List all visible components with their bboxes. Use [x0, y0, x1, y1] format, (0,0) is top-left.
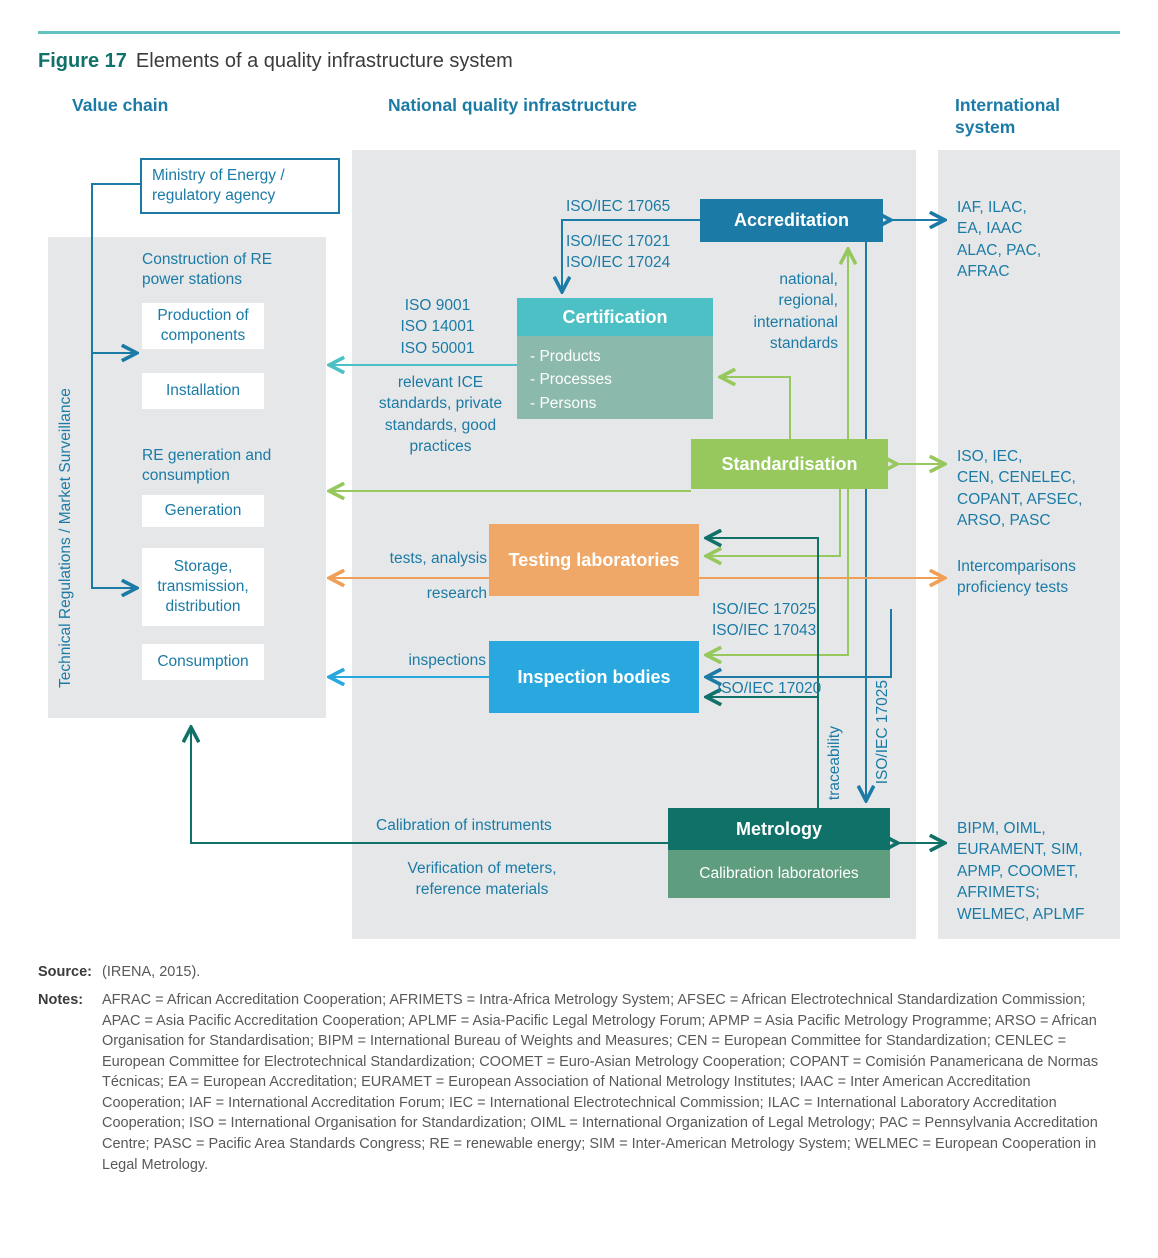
column-header-national-quality-infrastructure: National quality infrastructure [388, 95, 637, 117]
storage-transmission-distribution-box[interactable]: Storage, transmission, distribution [142, 548, 264, 626]
installation-box[interactable]: Installation [142, 373, 264, 409]
notes-block: Notes:AFRAC = African Accreditation Coop… [38, 990, 1120, 1175]
label-iso-17020: ISO/IEC 17020 [717, 678, 821, 699]
testing-laboratories-box[interactable]: Testing laboratories [489, 524, 699, 596]
notes-label: Notes: [38, 990, 102, 1011]
re-generation-group-title: RE generation and consumption [142, 446, 317, 486]
notes-text: AFRAC = African Accreditation Cooperatio… [102, 990, 1114, 1175]
figure-label: Figure 17 [38, 50, 127, 72]
label-iso-17021-17024: ISO/IEC 17021 ISO/IEC 17024 [566, 231, 670, 274]
inspection-bodies-box[interactable]: Inspection bodies [489, 641, 699, 713]
column-header-value-chain: Value chain [72, 95, 168, 117]
figure-title: Elements of a quality infrastructure sys… [136, 50, 513, 72]
metrology-box[interactable]: Metrology [668, 808, 890, 850]
label-tests-analysis: tests, analysis [357, 548, 487, 569]
construction-group-title: Construction of RE power stations [142, 250, 317, 290]
international-standardisation-bodies: ISO, IEC, CEN, CENELEC, COPANT, AFSEC, A… [957, 446, 1082, 532]
label-research: research [357, 583, 487, 604]
source-text: (IRENA, 2015). [102, 962, 1114, 983]
calibration-laboratories-box[interactable]: Calibration laboratories [668, 850, 890, 898]
label-relevant-ice-standards: relevant ICE standards, private standard… [368, 372, 513, 458]
label-verification-of-meters: Verification of meters, reference materi… [392, 858, 572, 901]
label-national-regional-international-standards: national, regional, international standa… [730, 269, 838, 355]
top-accent-rule [38, 31, 1120, 34]
international-testing-bodies: Intercomparisons proficiency tests [957, 556, 1076, 599]
label-traceability: traceability [826, 726, 844, 800]
ministry-of-energy-box[interactable]: Ministry of Energy / regulatory agency [140, 158, 340, 214]
label-iso-17065: ISO/IEC 17065 [566, 196, 670, 217]
label-iso-17025-vertical: ISO/IEC 17025 [874, 680, 892, 784]
accreditation-box[interactable]: Accreditation [700, 199, 883, 242]
column-header-international-system: International system [955, 95, 1105, 139]
technical-regulations-vertical-label: Technical Regulations / Market Surveilla… [57, 248, 75, 688]
standardisation-box[interactable]: Standardisation [691, 439, 888, 489]
consumption-box[interactable]: Consumption [142, 644, 264, 680]
label-calibration-of-instruments: Calibration of instruments [376, 815, 552, 836]
international-accreditation-bodies: IAF, ILAC, EA, IAAC ALAC, PAC, AFRAC [957, 197, 1041, 283]
label-iso-17025-17043: ISO/IEC 17025 ISO/IEC 17043 [712, 599, 816, 642]
international-metrology-bodies: BIPM, OIML, EURAMENT, SIM, APMP, COOMET,… [957, 818, 1084, 925]
label-inspections: inspections [376, 650, 486, 671]
certification-box[interactable]: Certification [517, 298, 713, 336]
source-line: Source:(IRENA, 2015). [38, 962, 1118, 983]
figure-heading: Figure 17Elements of a quality infrastru… [38, 50, 513, 73]
generation-box[interactable]: Generation [142, 495, 264, 527]
certification-items: - Products - Processes - Persons [517, 336, 713, 419]
label-iso-9001-set: ISO 9001 ISO 14001 ISO 50001 [380, 295, 495, 359]
production-of-components-box[interactable]: Production of components [142, 303, 264, 349]
source-label: Source: [38, 962, 102, 983]
